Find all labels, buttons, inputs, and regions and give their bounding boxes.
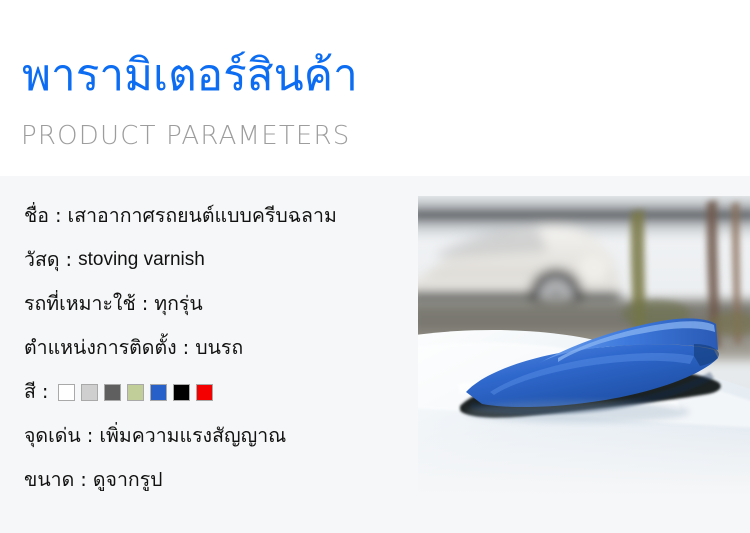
spec-row-install-position: ตำแหน่งการติดตั้ง : บนรถ — [24, 326, 419, 370]
spec-separator: : — [81, 414, 100, 458]
spec-row-size: ขนาด : ดูจากรูป — [24, 458, 419, 502]
color-swatch-group — [58, 384, 213, 401]
color-swatch-white[interactable] — [58, 384, 75, 401]
spec-value-material: stoving varnish — [78, 238, 205, 282]
spec-value-size: ดูจากรูป — [93, 458, 163, 502]
spec-separator: : — [74, 458, 93, 502]
spec-label-size: ขนาด — [24, 458, 74, 502]
spec-value-install-position: บนรถ — [195, 326, 243, 370]
color-swatch-light-green[interactable] — [127, 384, 144, 401]
spec-row-feature: จุดเด่น : เพิ่มความแรงสัญญาณ — [24, 414, 419, 458]
spec-label-color: สี — [24, 370, 36, 414]
spec-row-color: สี : — [24, 370, 419, 414]
color-swatch-red[interactable] — [196, 384, 213, 401]
spec-value-compatibility: ทุกรุ่น — [154, 282, 202, 326]
page-title-english: PRODUCT PARAMETERS — [21, 120, 351, 152]
spec-row-material: วัสดุ : stoving varnish — [24, 238, 419, 282]
product-photo-illustration — [418, 196, 750, 496]
spec-separator: : — [177, 326, 196, 370]
spec-label-compatibility: รถที่เหมาะใช้ — [24, 282, 136, 326]
product-parameters-page: พารามิเตอร์สินค้า PRODUCT PARAMETERS — [0, 0, 750, 533]
color-swatch-silver-gray[interactable] — [81, 384, 98, 401]
spec-value-feature: เพิ่มความแรงสัญญาณ — [99, 414, 286, 458]
spec-separator: : — [36, 370, 55, 414]
spec-value-name: เสาอากาศรถยนต์แบบครีบฉลาม — [68, 194, 337, 238]
spec-label-name: ชื่อ — [24, 194, 49, 238]
color-swatch-blue[interactable] — [150, 384, 167, 401]
spec-separator: : — [60, 238, 79, 282]
spec-label-feature: จุดเด่น — [24, 414, 81, 458]
color-swatch-black[interactable] — [173, 384, 190, 401]
spec-separator: : — [136, 282, 155, 326]
spec-row-compatibility: รถที่เหมาะใช้ : ทุกรุ่น — [24, 282, 419, 326]
spec-list: ชื่อ : เสาอากาศรถยนต์แบบครีบฉลาม วัสดุ :… — [24, 194, 419, 502]
color-swatch-dark-gray[interactable] — [104, 384, 121, 401]
spec-label-install-position: ตำแหน่งการติดตั้ง — [24, 326, 177, 370]
product-photo — [418, 196, 750, 496]
spec-row-name: ชื่อ : เสาอากาศรถยนต์แบบครีบฉลาม — [24, 194, 419, 238]
spec-label-material: วัสดุ — [24, 238, 60, 282]
spec-separator: : — [49, 194, 68, 238]
parameters-panel: ชื่อ : เสาอากาศรถยนต์แบบครีบฉลาม วัสดุ :… — [0, 176, 750, 533]
page-title-thai: พารามิเตอร์สินค้า — [22, 50, 358, 102]
page-header: พารามิเตอร์สินค้า PRODUCT PARAMETERS — [0, 0, 750, 176]
